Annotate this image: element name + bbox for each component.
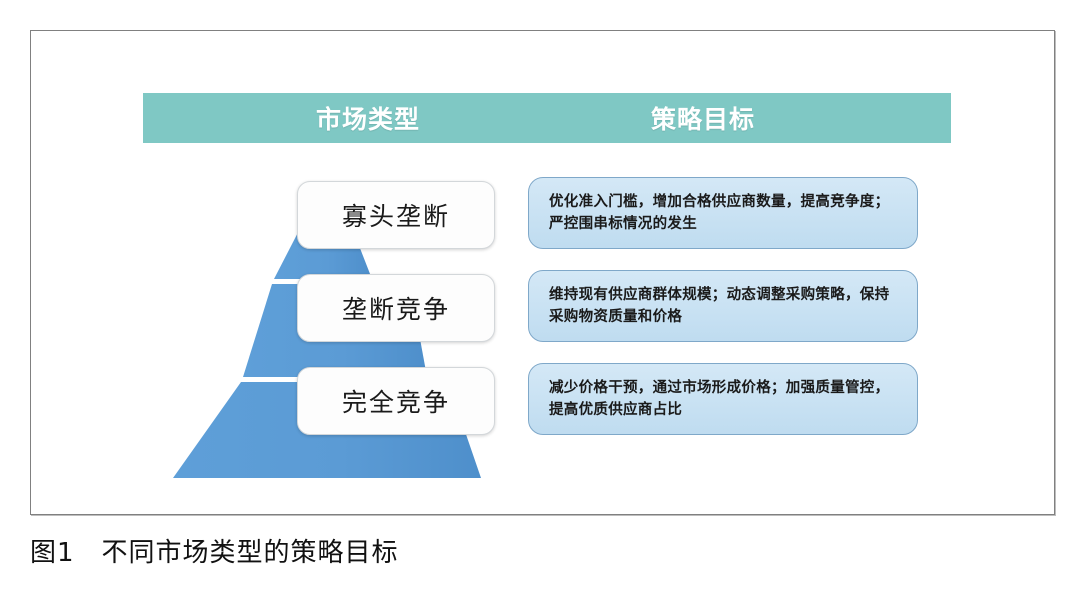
strategy-goal-box[interactable]: 优化准入门槛，增加合格供应商数量，提高竞争度；严控围串标情况的发生 [528, 177, 918, 249]
figure-frame: 市场类型 策略目标 寡头垄断 垄断竞争 完全竞争 优化准入门槛，增加合格供应商数… [30, 30, 1055, 515]
strategy-goal-box[interactable]: 减少价格干预，通过市场形成价格；加强质量管控，提高优质供应商占比 [528, 363, 918, 435]
market-type-box[interactable]: 寡头垄断 [297, 181, 495, 249]
strategy-goal-box[interactable]: 维持现有供应商群体规模；动态调整采购策略，保持采购物资质量和价格 [528, 270, 918, 342]
market-type-label: 寡头垄断 [342, 197, 450, 233]
strategy-goal-text: 优化准入门槛，增加合格供应商数量，提高竞争度；严控围串标情况的发生 [549, 191, 901, 236]
strategy-goal-text: 维持现有供应商群体规模；动态调整采购策略，保持采购物资质量和价格 [549, 284, 901, 329]
market-type-label: 完全竞争 [342, 383, 450, 419]
market-type-box[interactable]: 垄断竞争 [297, 274, 495, 342]
strategy-goal-text: 减少价格干预，通过市场形成价格；加强质量管控，提高优质供应商占比 [549, 377, 901, 422]
header-label-market-type: 市场类型 [233, 100, 503, 136]
header-label-strategy-goal: 策略目标 [538, 100, 868, 136]
market-type-box[interactable]: 完全竞争 [297, 367, 495, 435]
header-band: 市场类型 策略目标 [143, 93, 951, 143]
figure-caption: 图1 不同市场类型的策略目标 [30, 532, 399, 569]
market-type-label: 垄断竞争 [342, 290, 450, 326]
